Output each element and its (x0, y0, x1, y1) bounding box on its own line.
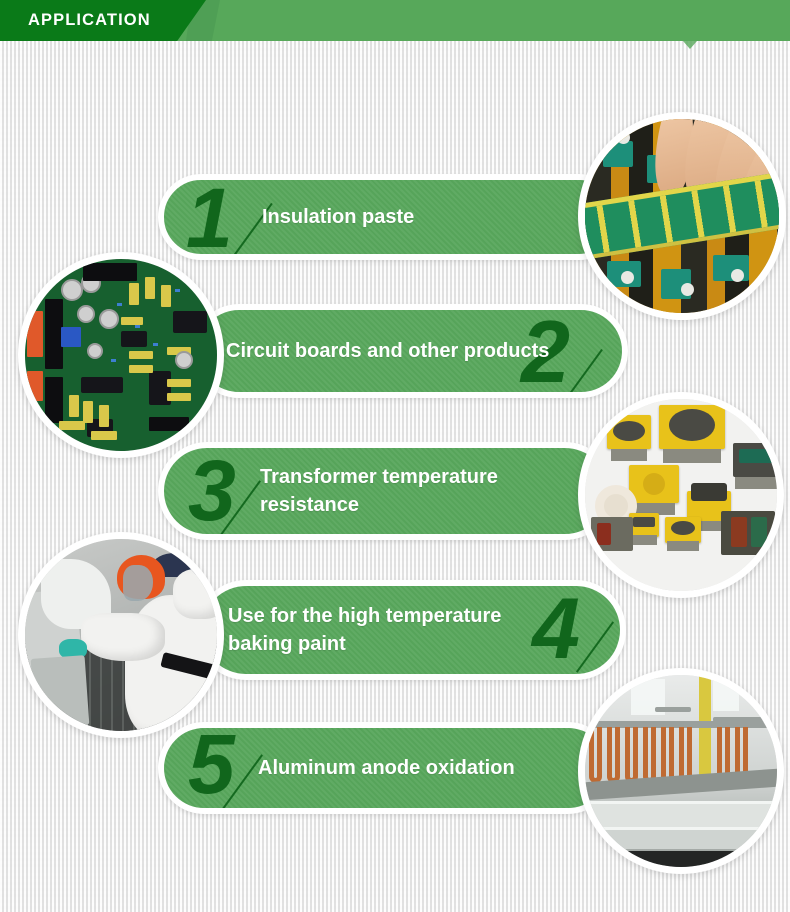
application-banner: APPLICATION (0, 0, 790, 41)
item-label-3: Transformer temperature resistance (260, 463, 498, 519)
item-number-4: 4 (532, 596, 580, 663)
application-item-3[interactable]: 3 Transformer temperature resistance (158, 442, 614, 540)
item-number-3: 3 (188, 458, 236, 525)
application-item-5[interactable]: 5 Aluminum anode oxidation (158, 722, 614, 814)
hand-applying-green-tape-to-pcb-image (585, 119, 779, 313)
green-circuit-board-image (25, 259, 217, 451)
item-label-4: Use for the high temperature baking pain… (228, 602, 501, 658)
photo-baking-paint[interactable] (18, 532, 224, 738)
item-label-1: Insulation paste (262, 203, 414, 231)
application-item-1[interactable]: 1 Insulation paste (158, 174, 622, 260)
aluminum-anodizing-line-image (585, 675, 777, 867)
photo-aluminum-anode-oxidation[interactable] (578, 668, 784, 874)
item-number-slash-3 (217, 480, 261, 539)
application-page: APPLICATION 1 Insulation paste (0, 0, 790, 912)
application-item-4[interactable]: 4 Use for the high temperature baking pa… (196, 580, 626, 680)
item-number-5: 5 (188, 732, 235, 798)
photo-transformer-resistance[interactable] (578, 392, 784, 598)
page-title: APPLICATION (28, 10, 151, 31)
yellow-taped-transformers-image (585, 399, 777, 591)
item-number-slash-4 (576, 621, 614, 672)
application-item-2[interactable]: 2 Circuit boards and other products (192, 304, 628, 398)
item-label-2: Circuit boards and other products (226, 337, 549, 365)
item-number-1: 1 (186, 186, 233, 252)
photo-insulation-paste[interactable] (578, 112, 786, 320)
item-label-5: Aluminum anode oxidation (258, 754, 515, 782)
item-number-slash-5 (219, 754, 263, 813)
banner-notch-icon (683, 41, 697, 49)
photo-circuit-boards[interactable] (18, 252, 224, 458)
item-number-slash-2 (567, 349, 603, 397)
worker-spray-painting-booth-image (25, 539, 217, 731)
